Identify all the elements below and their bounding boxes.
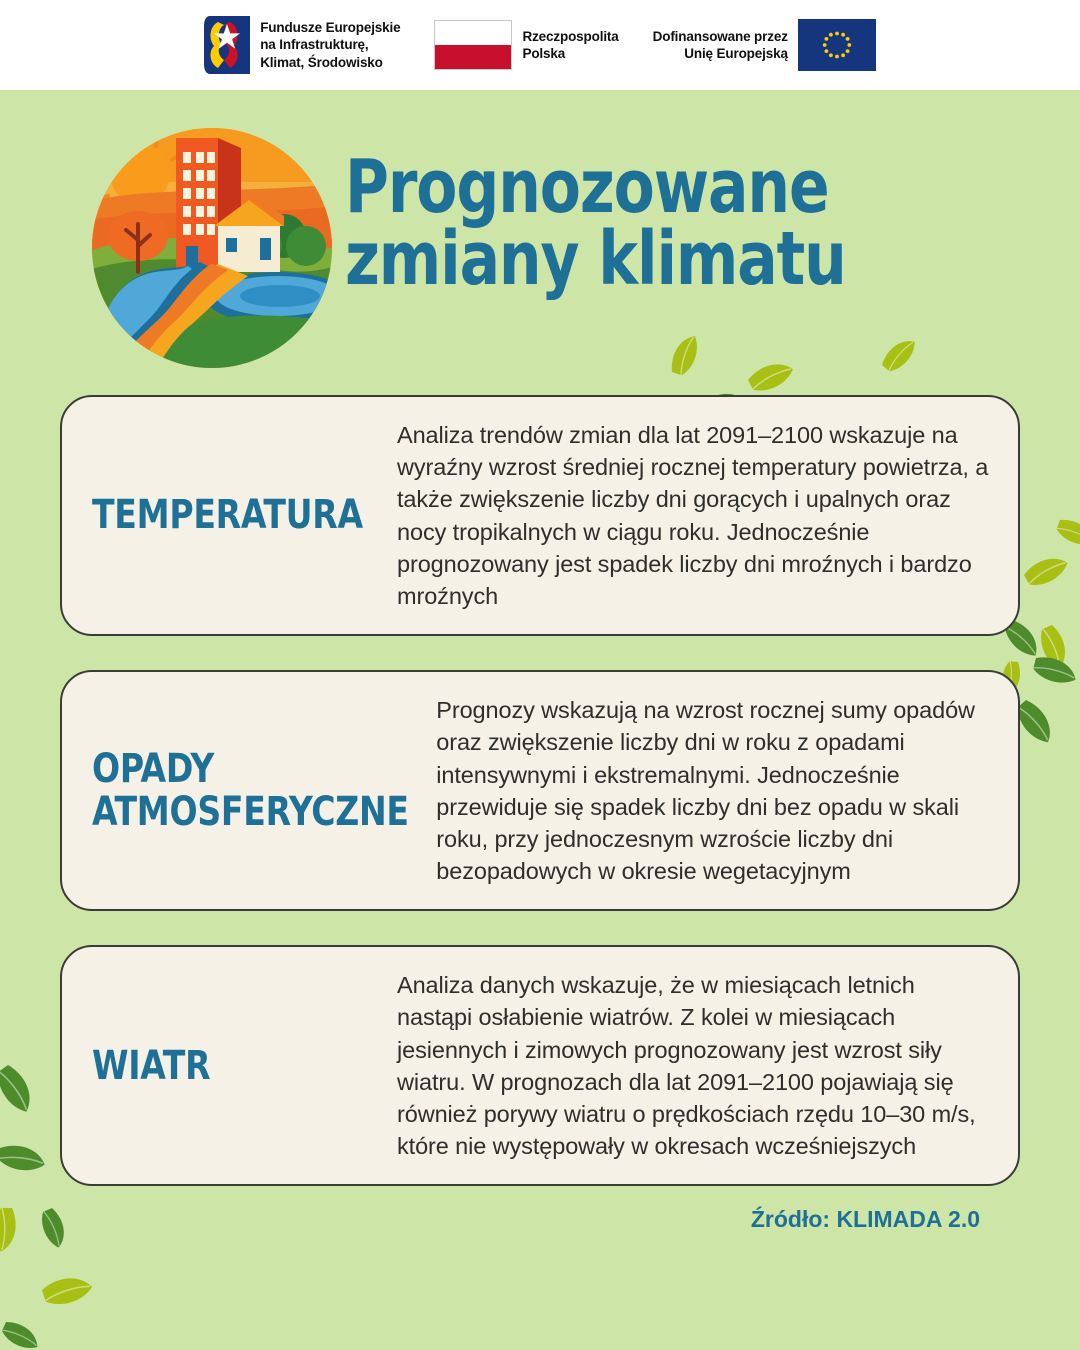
logo-unia-europejska-label: Dofinansowane przez Unię Europejską [653,28,788,63]
card-wiatr: WIATR Analiza danych wskazuje, że w mies… [60,945,1020,1186]
source-attribution: Źródło: KLIMADA 2.0 [0,1206,1080,1233]
card-label-temperatura: TEMPERATURA [92,494,373,536]
poland-flag-icon [434,20,512,70]
logo-unia-europejska: Dofinansowane przez Unię Europejską [653,19,876,71]
page-title: Prognozowane zmiany klimatu [345,152,966,296]
eu-funding-header: Fundusze Europejskie na Infrastrukturę, … [0,0,1080,90]
card-label-opady-atmosferyczne: OPADY ATMOSFERYCZNE [92,748,409,833]
card-body-opady-atmosferyczne: Prognozy wskazują na wzrost rocznej sumy… [436,694,992,887]
card-temperatura: TEMPERATURA Analiza trendów zmian dla la… [60,395,1020,636]
card-opady-atmosferyczne: OPADY ATMOSFERYCZNE Prognozy wskazują na… [60,670,1020,911]
hero-section: Prognozowane zmiany klimatu [0,90,1080,395]
eu-flag-icon [798,19,876,71]
climate-cards-list: TEMPERATURA Analiza trendów zmian dla la… [0,395,1080,1186]
logo-fundusze-europejskie: Fundusze Europejskie na Infrastrukturę, … [204,16,400,74]
logo-fundusze-europejskie-label: Fundusze Europejskie na Infrastrukturę, … [260,19,400,71]
fundusze-europejskie-icon [204,16,250,74]
card-body-temperatura: Analiza trendów zmian dla lat 2091–2100 … [397,419,992,612]
card-body-wiatr: Analiza danych wskazuje, że w miesiącach… [397,969,992,1162]
card-label-wiatr: WIATR [92,1045,373,1087]
logo-rzeczpospolita-polska-label: Rzeczpospolita Polska [522,28,618,63]
climate-landscape-illustration [88,124,336,372]
logo-rzeczpospolita-polska: Rzeczpospolita Polska [434,20,618,70]
